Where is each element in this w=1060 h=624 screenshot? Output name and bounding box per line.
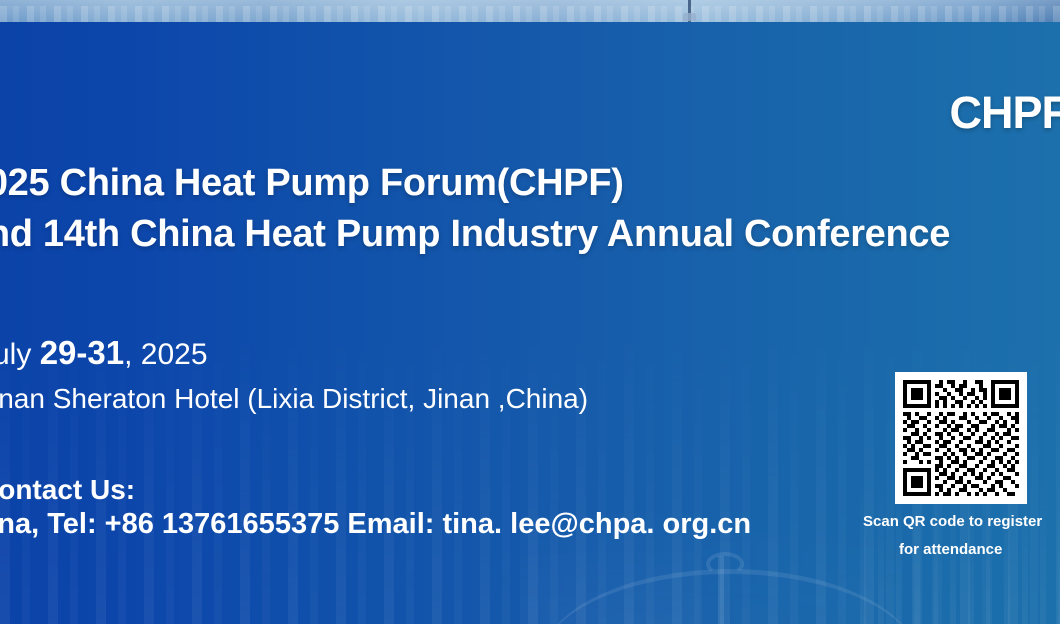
contact-us-label: Contact Us: — [0, 471, 135, 509]
conference-banner: CHPF 2025 China Heat Pump Forum(CHPF) an… — [0, 0, 1060, 624]
event-date-suffix: , 2025 — [124, 338, 207, 371]
event-title-line-2: and 14th China Heat Pump Industry Annual… — [0, 209, 1060, 260]
event-title-line-1: 2025 China Heat Pump Forum(CHPF) — [0, 158, 1060, 209]
banner-content: CHPF 2025 China Heat Pump Forum(CHPF) an… — [0, 0, 1060, 624]
qr-caption-line-1: Scan QR code to register — [861, 511, 1060, 532]
event-date-prefix: July — [0, 338, 40, 371]
qr-code-icon[interactable] — [895, 372, 1027, 504]
chpf-logo: CHPF — [950, 90, 1060, 135]
event-venue: Jinan Sheraton Hotel (Lixia District, Ji… — [0, 378, 588, 420]
event-title: 2025 China Heat Pump Forum(CHPF) and 14t… — [0, 158, 1060, 260]
qr-registration-block[interactable]: Scan QR code to register for attendance — [861, 372, 1060, 560]
event-date-days: 29-31 — [40, 334, 124, 371]
qr-caption-line-2: for attendance — [861, 539, 1060, 560]
event-date: July 29-31, 2025 — [0, 330, 208, 378]
contact-details: Tina, Tel: +86 13761655375 Email: tina. … — [0, 505, 751, 543]
